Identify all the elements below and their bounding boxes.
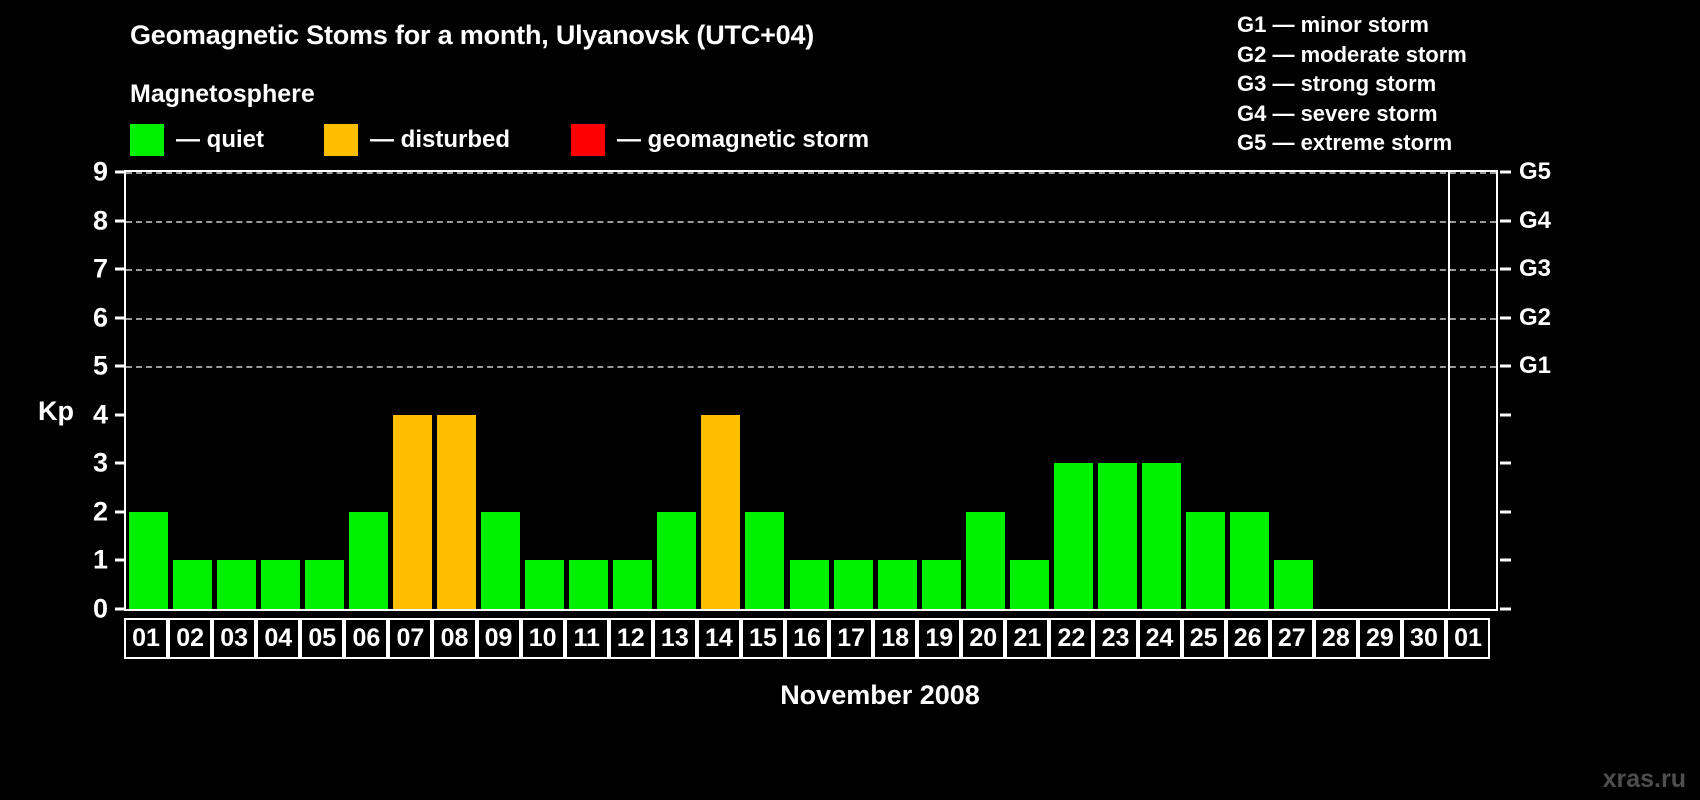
day-label-17: 17 [829,618,873,659]
y-tick-mark-6 [115,316,126,319]
day-label-25: 25 [1182,618,1226,659]
legend-swatch-disturbed-icon [324,124,358,156]
bar-day-13 [657,512,696,609]
bar-day-20 [966,512,1005,609]
g-axis-minor-tick-kp-0 [1500,608,1511,611]
day-label-21: 21 [1005,618,1049,659]
bar-day-11 [569,560,608,609]
day-label-05: 05 [300,618,344,659]
y-tick-label-1: 1 [68,545,108,576]
g-axis-tick-G1 [1500,365,1511,368]
geomagnetic-storm-chart: Geomagnetic Stoms for a month, Ulyanovsk… [0,0,1700,800]
day-label-19: 19 [917,618,961,659]
bar-day-06 [349,512,388,609]
bar-day-07 [393,415,432,609]
bar-day-19 [922,560,961,609]
day-label-next-month-01: 01 [1446,618,1490,659]
bar-day-18 [878,560,917,609]
day-label-02: 02 [168,618,212,659]
day-label-23: 23 [1093,618,1137,659]
plot-area [124,170,1498,611]
bar-day-08 [437,415,476,609]
plot-inner [126,172,1496,609]
y-tick-mark-8 [115,219,126,222]
day-label-13: 13 [653,618,697,659]
bar-day-26 [1230,512,1269,609]
bar-day-24 [1142,463,1181,609]
bar-day-25 [1186,512,1225,609]
y-tick-label-9: 9 [68,157,108,188]
g-axis-minor-tick-kp-3 [1500,462,1511,465]
day-label-12: 12 [609,618,653,659]
g-scale-key-row-2: G2 — moderate storm [1237,40,1467,70]
y-tick-label-8: 8 [68,205,108,236]
g-axis-minor-tick-kp-1 [1500,559,1511,562]
y-tick-mark-3 [115,462,126,465]
day-label-01: 01 [124,618,168,659]
bar-day-14 [701,415,740,609]
y-tick-mark-5 [115,365,126,368]
y-tick-mark-1 [115,559,126,562]
bar-day-21 [1010,560,1049,609]
g-axis-label-G4: G4 [1519,207,1551,235]
day-label-08: 08 [432,618,476,659]
day-label-16: 16 [785,618,829,659]
y-tick-label-0: 0 [68,594,108,625]
bar-day-23 [1098,463,1137,609]
day-label-11: 11 [565,618,609,659]
day-label-24: 24 [1138,618,1182,659]
bar-day-10 [525,560,564,609]
legend-label-disturbed: — disturbed [370,126,510,154]
y-tick-label-4: 4 [68,399,108,430]
day-label-09: 09 [477,618,521,659]
g-scale-key-row-1: G1 — minor storm [1237,10,1467,40]
day-label-30: 30 [1402,618,1446,659]
magnetosphere-legend: — quiet — disturbed — geomagnetic storm [130,123,869,157]
y-tick-mark-4 [115,413,126,416]
day-label-10: 10 [521,618,565,659]
day-label-27: 27 [1270,618,1314,659]
y-tick-mark-2 [115,510,126,513]
g-axis-tick-G5 [1500,171,1511,174]
y-tick-mark-9 [115,171,126,174]
legend-item-quiet: — quiet [130,123,264,157]
day-label-03: 03 [212,618,256,659]
bar-day-27 [1274,560,1313,609]
bar-day-12 [613,560,652,609]
x-axis-label: November 2008 [0,680,1700,711]
legend-heading: Magnetosphere [130,80,315,109]
y-tick-label-6: 6 [68,302,108,333]
bar-day-01 [129,512,168,609]
g-axis-minor-tick-kp-4 [1500,413,1511,416]
day-label-04: 04 [256,618,300,659]
day-label-28: 28 [1314,618,1358,659]
y-tick-label-7: 7 [68,254,108,285]
g-axis-tick-G2 [1500,316,1511,319]
legend-label-quiet: — quiet [176,126,264,154]
watermark: xras.ru [1603,765,1686,794]
y-tick-label-2: 2 [68,496,108,527]
g-axis-tick-G3 [1500,268,1511,271]
y-tick-mark-0 [115,608,126,611]
legend-item-storm: — geomagnetic storm [571,123,869,157]
day-label-18: 18 [873,618,917,659]
g-scale-key: G1 — minor stormG2 — moderate stormG3 — … [1237,10,1467,158]
bars-layer [126,172,1496,609]
day-label-14: 14 [697,618,741,659]
bar-day-09 [481,512,520,609]
legend-label-storm: — geomagnetic storm [617,126,869,154]
g-axis-label-G2: G2 [1519,304,1551,332]
y-tick-mark-7 [115,268,126,271]
legend-swatch-storm-icon [571,124,605,156]
day-label-29: 29 [1358,618,1402,659]
g-axis-label-G3: G3 [1519,255,1551,283]
bar-day-02 [173,560,212,609]
bar-day-05 [305,560,344,609]
day-label-15: 15 [741,618,785,659]
g-scale-key-row-5: G5 — extreme storm [1237,128,1467,158]
y-tick-label-5: 5 [68,351,108,382]
g-axis-label-G5: G5 [1519,158,1551,186]
bar-day-17 [834,560,873,609]
bar-day-04 [261,560,300,609]
g-scale-key-row-4: G4 — severe storm [1237,99,1467,129]
page-title: Geomagnetic Stoms for a month, Ulyanovsk… [130,20,814,51]
bar-day-22 [1054,463,1093,609]
bar-day-15 [745,512,784,609]
day-label-20: 20 [961,618,1005,659]
bar-day-16 [790,560,829,609]
bar-day-03 [217,560,256,609]
g-scale-key-row-3: G3 — strong storm [1237,69,1467,99]
legend-item-disturbed: — disturbed [324,123,510,157]
legend-swatch-quiet-icon [130,124,164,156]
g-axis-minor-tick-kp-2 [1500,510,1511,513]
day-label-22: 22 [1049,618,1093,659]
y-tick-label-3: 3 [68,448,108,479]
g-axis-tick-G4 [1500,219,1511,222]
day-label-06: 06 [344,618,388,659]
next-month-divider [1448,172,1450,609]
day-label-07: 07 [388,618,432,659]
day-label-26: 26 [1226,618,1270,659]
g-axis-label-G1: G1 [1519,352,1551,380]
